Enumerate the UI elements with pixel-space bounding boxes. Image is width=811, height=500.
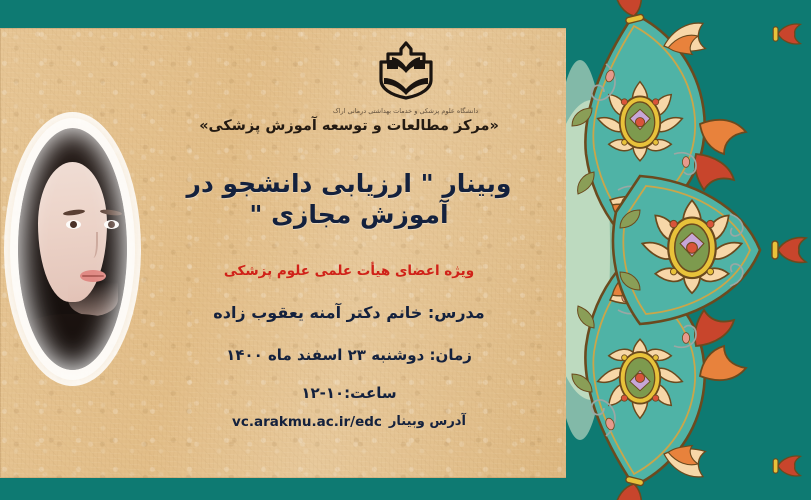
shoulders xyxy=(18,314,127,370)
address-label: آدرس وبینار xyxy=(389,414,466,429)
presenter-line: مدرس: خانم دکتر آمنه یعقوب زاده xyxy=(140,303,558,322)
mouth xyxy=(80,270,106,282)
nose xyxy=(90,232,98,258)
eyebrow-left xyxy=(63,209,85,217)
logo-caption: دانشگاه علوم پزشکی و خدمات بهداشتی درمان… xyxy=(0,107,811,115)
presenter-portrait-photo xyxy=(18,128,127,370)
address-row: آدرس وبینار vc.arakmu.ac.ir/edc xyxy=(140,414,558,430)
avatar xyxy=(10,118,135,380)
arak-university-book-arch-logo xyxy=(364,40,448,106)
datetime-line: زمان: دوشنبه ۲۳ اسفند ماه ۱۴۰۰ xyxy=(140,346,558,364)
hour-line: ساعت:۱۰-۱۲ xyxy=(140,384,558,402)
poster-content: «مرکز مطالعات و توسعه آموزش پزشکی» وبینا… xyxy=(140,118,558,430)
eye-left xyxy=(66,220,81,229)
organization-line: «مرکز مطالعات و توسعه آموزش پزشکی» xyxy=(140,118,558,134)
eye-right xyxy=(104,220,119,229)
face xyxy=(38,162,107,302)
audience-line: ویژه اعضای هیأت علمی علوم پزشکی xyxy=(140,263,558,279)
chin-shadow xyxy=(68,282,118,316)
webinar-url[interactable]: vc.arakmu.ac.ir/edc xyxy=(232,414,382,430)
university-logo-block: دانشگاه علوم پزشکی و خدمات بهداشتی درمان… xyxy=(0,40,811,115)
page-title: وبینار " ارزیابی دانشجو در آموزش مجازی " xyxy=(140,168,558,231)
webinar-poster: دانشگاه علوم پزشکی و خدمات بهداشتی درمان… xyxy=(0,0,811,500)
